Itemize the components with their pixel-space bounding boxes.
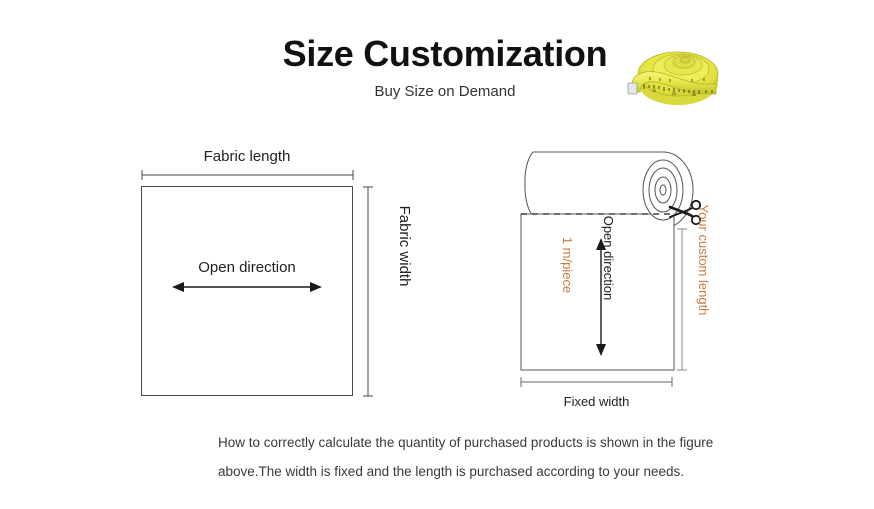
piece-length-label: 1 m/piece bbox=[560, 220, 575, 310]
fixed-width-label: Fixed width bbox=[520, 394, 673, 409]
fabric-width-label: Fabric width bbox=[396, 191, 413, 301]
page-subtitle: Buy Size on Demand bbox=[0, 82, 874, 102]
open-direction-label-left: Open direction bbox=[141, 259, 353, 276]
custom-length-dimension-line bbox=[676, 228, 688, 371]
svg-text:10: 10 bbox=[652, 89, 656, 93]
fixed-width-dimension-line bbox=[520, 375, 673, 387]
double-arrow-horizontal-icon bbox=[172, 280, 322, 294]
svg-text:30: 30 bbox=[692, 93, 696, 97]
fabric-width-dimension-line bbox=[362, 186, 374, 397]
fabric-length-label: Fabric length bbox=[141, 148, 353, 165]
open-direction-label-right: Open direction bbox=[601, 203, 616, 313]
size-customization-infographic: Size Customization Buy Size on Demand bbox=[0, 0, 874, 509]
custom-length-label: Your custom length bbox=[696, 195, 711, 325]
page-title: Size Customization bbox=[0, 33, 874, 75]
fabric-length-dimension-line bbox=[141, 168, 354, 180]
svg-text:20: 20 bbox=[672, 92, 676, 96]
footer-description: How to correctly calculate the quantity … bbox=[218, 428, 738, 486]
measuring-tape-icon: 10 20 30 bbox=[626, 36, 722, 112]
